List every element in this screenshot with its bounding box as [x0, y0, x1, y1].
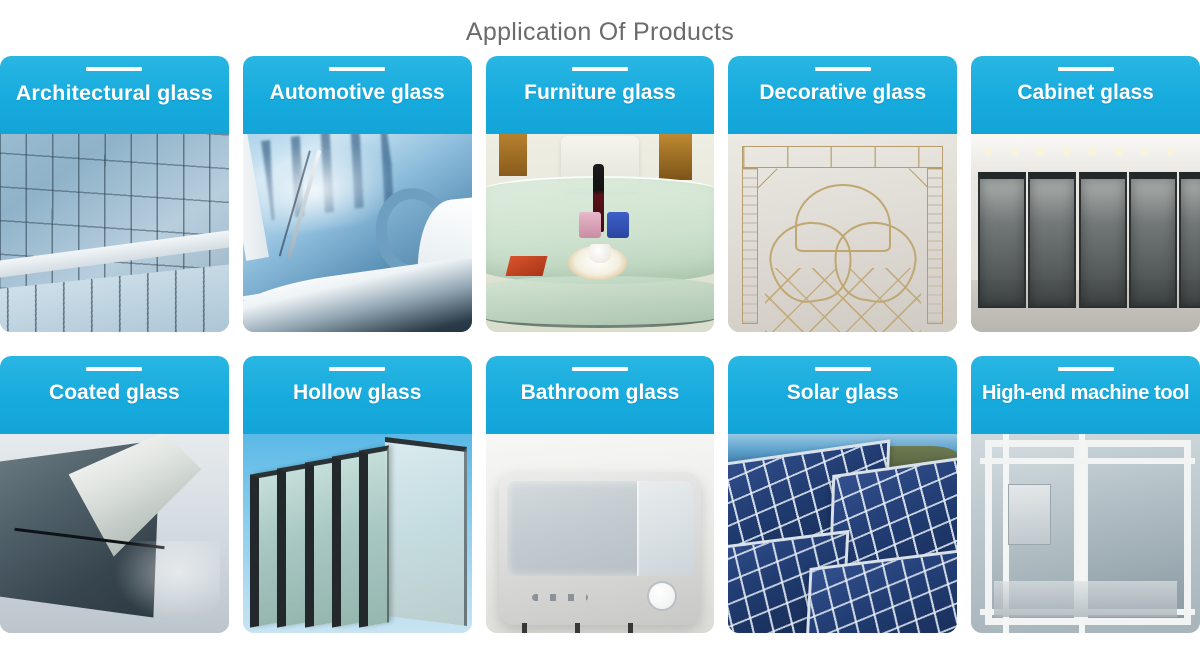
card-title: Solar glass: [783, 380, 903, 406]
card-header: Cabinet glass: [971, 56, 1200, 134]
card-title: Architectural glass: [12, 80, 217, 106]
card-header: High-end machine tool: [971, 356, 1200, 434]
card-photo-glass-display-cabinets: [971, 132, 1200, 332]
product-card-hollow-glass[interactable]: Hollow glass: [243, 356, 472, 633]
card-header: Hollow glass: [243, 356, 472, 434]
product-grid-row-1: Architectural glass Automotive glass Fur…: [0, 56, 1200, 332]
dash-divider-icon: [815, 367, 871, 371]
card-header: Automotive glass: [243, 56, 472, 134]
card-photo-leaded-decorative-panel: [728, 132, 957, 332]
product-card-high-end-machine-tool[interactable]: High-end machine tool: [971, 356, 1200, 633]
card-header: Decorative glass: [728, 56, 957, 134]
dash-divider-icon: [1058, 67, 1114, 71]
card-title: High-end machine tool: [978, 380, 1193, 406]
dash-divider-icon: [815, 67, 871, 71]
product-card-bathroom-glass[interactable]: Bathroom glass: [486, 356, 715, 633]
product-grid-row-2: Coated glass Hollow glass: [0, 356, 1200, 633]
card-header: Coated glass: [0, 356, 229, 434]
card-title: Furniture glass: [520, 80, 680, 106]
card-photo-led-bathroom-mirror: [486, 432, 715, 633]
card-photo-solar-panel-array: [728, 432, 957, 633]
card-photo-glass-curtain-wall-building: [0, 132, 229, 332]
card-title: Coated glass: [45, 380, 184, 406]
product-card-coated-glass[interactable]: Coated glass: [0, 356, 229, 633]
dash-divider-icon: [1058, 367, 1114, 371]
card-photo-car-windshield: [243, 132, 472, 332]
dash-divider-icon: [329, 67, 385, 71]
card-title: Automotive glass: [266, 80, 449, 106]
dash-divider-icon: [329, 367, 385, 371]
dash-divider-icon: [572, 367, 628, 371]
card-header: Furniture glass: [486, 56, 715, 134]
product-card-solar-glass[interactable]: Solar glass: [728, 356, 957, 633]
product-card-furniture-glass[interactable]: Furniture glass: [486, 56, 715, 332]
card-header: Solar glass: [728, 356, 957, 434]
product-card-automotive-glass[interactable]: Automotive glass: [243, 56, 472, 332]
dash-divider-icon: [86, 67, 142, 71]
product-card-decorative-glass[interactable]: Decorative glass: [728, 56, 957, 332]
dash-divider-icon: [86, 367, 142, 371]
product-card-architectural-glass[interactable]: Architectural glass: [0, 56, 229, 332]
card-title: Hollow glass: [289, 380, 425, 406]
card-photo-machine-tool-enclosure: [971, 432, 1200, 633]
card-header: Bathroom glass: [486, 356, 715, 434]
card-photo-insulated-glass-units: [243, 432, 472, 633]
page-title: Application Of Products: [0, 0, 1200, 56]
card-photo-coated-glass-sheet: [0, 432, 229, 633]
application-of-products-page: Application Of Products Architectural gl…: [0, 0, 1200, 655]
card-title: Cabinet glass: [1013, 80, 1158, 106]
card-header: Architectural glass: [0, 56, 229, 134]
card-title: Decorative glass: [755, 80, 930, 106]
product-card-cabinet-glass[interactable]: Cabinet glass: [971, 56, 1200, 332]
card-title: Bathroom glass: [517, 380, 684, 406]
card-photo-glass-dining-table: [486, 132, 715, 332]
dash-divider-icon: [572, 67, 628, 71]
